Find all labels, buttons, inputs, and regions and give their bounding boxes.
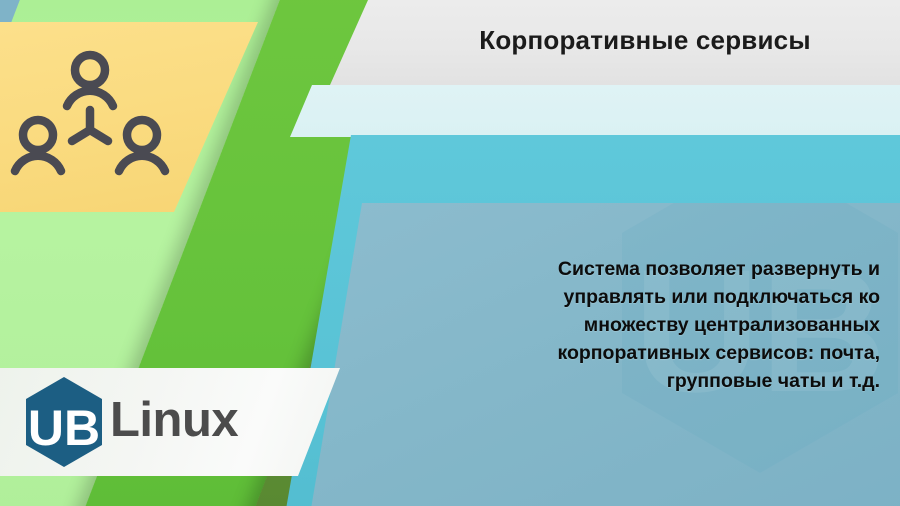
logo-mark-text: UB	[28, 400, 100, 456]
logo-wordmark: Linux	[110, 396, 238, 449]
content-card: UB Система позволяет развернуть и управл…	[310, 203, 900, 506]
presentation-slide: Корпоративные сервисы UB Система позволя…	[0, 0, 900, 506]
logo-lockup: UB Linux	[0, 375, 238, 469]
slide-title-bar: Корпоративные сервисы	[330, 0, 900, 85]
page-title: Корпоративные сервисы	[439, 25, 811, 60]
logo-bar: UB Linux	[0, 368, 340, 476]
ub-hexagon-logo-icon: UB	[22, 375, 106, 469]
header-underband	[290, 85, 900, 137]
group-people-icon	[10, 44, 170, 194]
slide-body-text: Система позволяет развернуть и управлять…	[460, 255, 880, 395]
